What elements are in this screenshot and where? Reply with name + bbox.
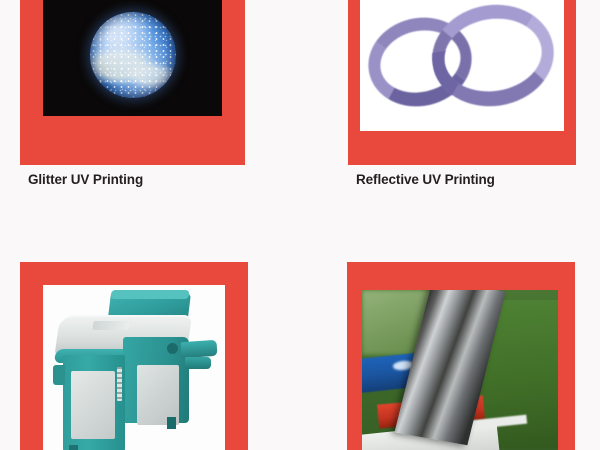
machine-hood-top <box>110 290 189 299</box>
machine-knob <box>167 343 178 354</box>
product-card-gallery: Glitter UV Printing Reflective UV Printi… <box>0 0 600 450</box>
machine-side-tab <box>53 365 65 385</box>
squeegee-screen-printing-photo <box>362 290 558 450</box>
uv-curing-machine-photo <box>43 285 225 450</box>
card-squeegee-printing[interactable] <box>347 262 575 450</box>
machine-arm-lower <box>185 357 211 369</box>
machine-foot-left <box>69 445 78 450</box>
glitter-sphere-shape <box>90 12 176 98</box>
machine-illustration <box>49 293 219 450</box>
machine-arm-upper <box>180 340 217 358</box>
glitter-sphere-photo <box>43 0 222 116</box>
machine-panel-side <box>137 365 179 425</box>
machine-panel-front <box>71 371 115 439</box>
machine-vent <box>117 367 122 401</box>
machine-bed-slot <box>92 321 129 330</box>
card-reflective-uv-printing[interactable] <box>348 0 576 165</box>
reflective-wristbands-photo <box>360 0 564 131</box>
caption-reflective-uv-printing: Reflective UV Printing <box>356 172 495 187</box>
glitter-rim-shading <box>90 12 176 98</box>
machine-foot-right <box>167 417 176 429</box>
card-glitter-uv-printing[interactable] <box>20 0 245 165</box>
caption-glitter-uv-printing: Glitter UV Printing <box>28 172 143 187</box>
card-uv-curing-machine[interactable] <box>20 262 248 450</box>
